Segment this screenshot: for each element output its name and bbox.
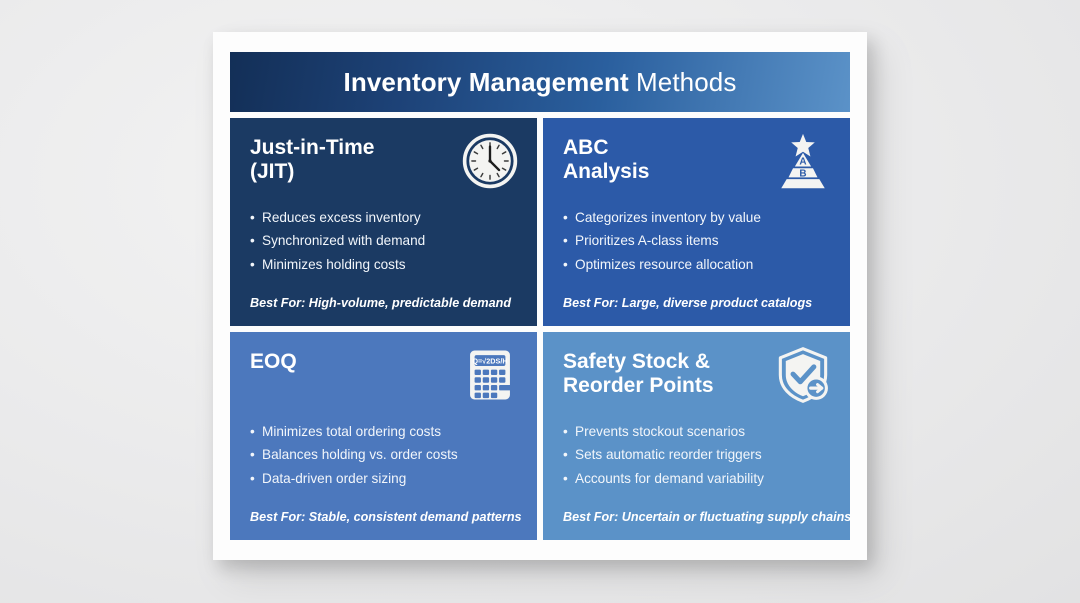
best-for-note: Best For: High-volume, predictable deman…	[250, 296, 519, 312]
clock-icon	[461, 132, 519, 190]
best-for-note: Best For: Uncertain or fluctuating suppl…	[563, 510, 832, 526]
list-item: Prioritizes A-class items	[563, 229, 832, 252]
card-bullet-list: Reduces excess inventory Synchronized wi…	[250, 206, 519, 276]
card-header: Safety Stock & Reorder Points	[563, 348, 832, 410]
methods-grid: Just-in-Time (JIT)	[230, 118, 850, 540]
best-for-note: Best For: Large, diverse product catalog…	[563, 296, 832, 312]
card-title: Safety Stock & Reorder Points	[563, 348, 714, 398]
list-item: Accounts for demand variability	[563, 467, 832, 490]
card-eoq[interactable]: EOQ Q=√2DS/H	[230, 332, 537, 540]
page-title-bold: Inventory Management	[344, 67, 629, 97]
card-just-in-time[interactable]: Just-in-Time (JIT)	[230, 118, 537, 326]
list-item: Minimizes total ordering costs	[250, 420, 519, 443]
list-item: Synchronized with demand	[250, 229, 519, 252]
calculator-icon: Q=√2DS/H	[461, 346, 519, 404]
list-item: Data-driven order sizing	[250, 467, 519, 490]
card-bullet-list: Categorizes inventory by value Prioritiz…	[563, 206, 832, 276]
list-item: Balances holding vs. order costs	[250, 443, 519, 466]
pyramid-icon: A B	[774, 132, 832, 190]
list-item: Reduces excess inventory	[250, 206, 519, 229]
svg-text:B: B	[799, 168, 806, 179]
card-header: ABC Analysis A B	[563, 134, 832, 196]
card-header: Just-in-Time (JIT)	[250, 134, 519, 196]
page-title-light: Methods	[629, 67, 737, 97]
infographic: Inventory Management Methods Just-in-Tim…	[230, 52, 850, 540]
poster-frame: Inventory Management Methods Just-in-Tim…	[213, 32, 867, 560]
page-title: Inventory Management Methods	[344, 67, 737, 98]
card-title: Just-in-Time (JIT)	[250, 134, 374, 184]
card-title: ABC Analysis	[563, 134, 649, 184]
list-item: Prevents stockout scenarios	[563, 420, 832, 443]
list-item: Optimizes resource allocation	[563, 253, 832, 276]
header-bar: Inventory Management Methods	[230, 52, 850, 112]
card-bullet-list: Minimizes total ordering costs Balances …	[250, 420, 519, 490]
card-safety-stock[interactable]: Safety Stock & Reorder Points	[543, 332, 850, 540]
list-item: Categorizes inventory by value	[563, 206, 832, 229]
card-abc-analysis[interactable]: ABC Analysis A B Categorizes invento	[543, 118, 850, 326]
shield-check-icon	[774, 346, 832, 404]
card-title: EOQ	[250, 348, 297, 374]
list-item: Sets automatic reorder triggers	[563, 443, 832, 466]
svg-text:Q=√2DS/H: Q=√2DS/H	[472, 356, 507, 365]
best-for-note: Best For: Stable, consistent demand patt…	[250, 510, 519, 526]
list-item: Minimizes holding costs	[250, 253, 519, 276]
svg-text:A: A	[799, 157, 806, 168]
card-header: EOQ Q=√2DS/H	[250, 348, 519, 410]
card-bullet-list: Prevents stockout scenarios Sets automat…	[563, 420, 832, 490]
